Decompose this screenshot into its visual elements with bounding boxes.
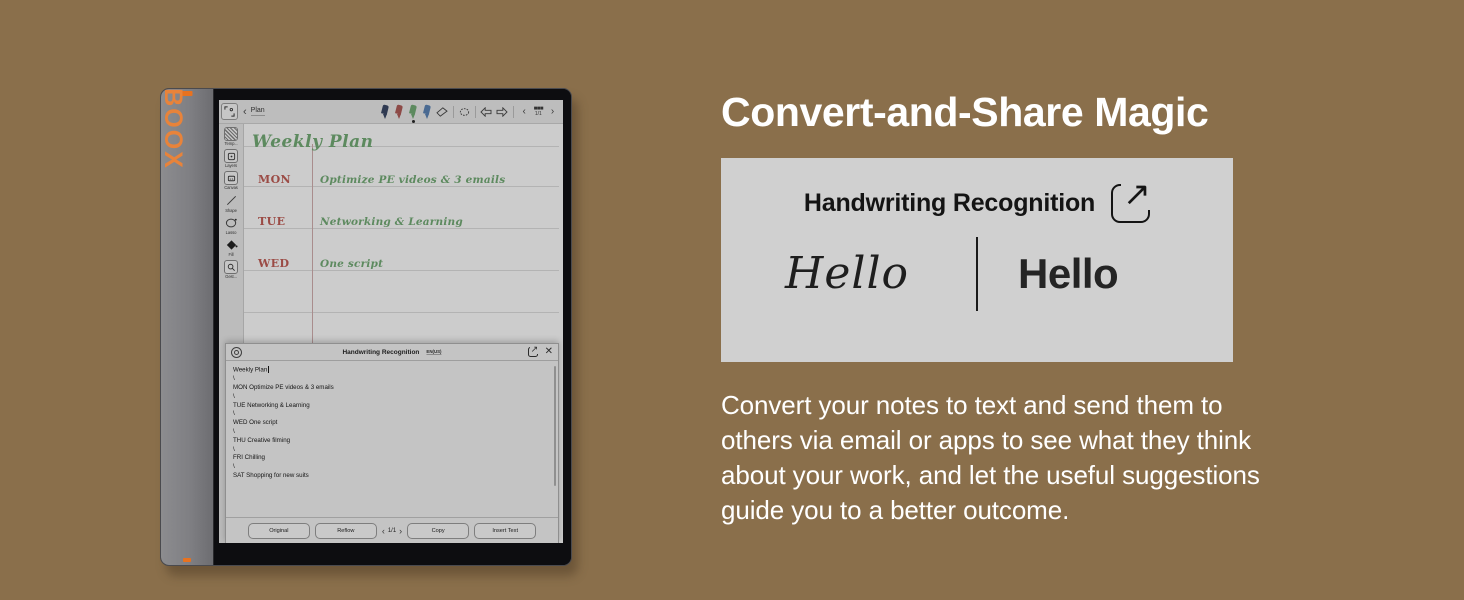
body-paragraph: Convert your notes to text and send them… xyxy=(721,388,1277,528)
undo-icon[interactable] xyxy=(480,105,493,118)
recognized-line: \ xyxy=(233,463,550,472)
pen-black[interactable] xyxy=(380,105,391,119)
insert-text-button[interactable]: Insert Text xyxy=(474,523,536,539)
tablet-screen-frame: ‹ Plan xyxy=(214,89,571,565)
recognition-panel-footer: Original Reflow ‹ 1/1 › Copy Insert Text xyxy=(226,517,558,543)
sidebar-label: Layers xyxy=(225,164,237,168)
recognized-line: \ xyxy=(233,375,550,384)
chevron-left-icon[interactable]: ‹ xyxy=(243,106,247,118)
recognition-panel-title-group: Handwriting Recognition EN(US) xyxy=(342,349,441,356)
original-button[interactable]: Original xyxy=(248,523,310,539)
lasso-icon xyxy=(224,216,238,230)
feature-card: Handwriting Recognition ↗ Hello Hello xyxy=(721,158,1233,362)
note-day-wed: WED xyxy=(258,257,289,270)
pen-green[interactable] xyxy=(408,105,419,119)
recognized-text-area[interactable]: Weekly Plan \ MON Optimize PE videos & 3… xyxy=(226,361,558,517)
handwritten-sample: Hello xyxy=(758,248,936,299)
demo-divider xyxy=(976,237,978,311)
note-text-tue: Networking & Learning xyxy=(320,216,463,228)
sidebar-item-canvas[interactable]: 1:1 Canvas xyxy=(219,171,243,190)
feature-card-title: Handwriting Recognition xyxy=(804,189,1095,218)
shape-line-icon xyxy=(224,194,238,208)
gear-icon[interactable] xyxy=(231,347,242,358)
tablet-bezel: BOOX xyxy=(161,89,214,565)
reflow-button[interactable]: Reflow xyxy=(315,523,377,539)
tablet-screen: ‹ Plan xyxy=(219,100,563,543)
note-text-wed: One script xyxy=(320,258,383,270)
handwriting-recognition-panel: Handwriting Recognition EN(US) ✕ Weekly … xyxy=(225,343,559,543)
recognition-panel-actions: ✕ xyxy=(528,347,553,357)
svg-text:1:1: 1:1 xyxy=(229,177,234,181)
recognition-panel-header: Handwriting Recognition EN(US) ✕ xyxy=(226,344,558,361)
redo-icon[interactable] xyxy=(496,105,509,118)
recognized-line: TUE Networking & Learning xyxy=(233,402,550,411)
conversion-demo: Hello Hello xyxy=(758,237,1196,311)
toolbar-divider xyxy=(475,106,476,118)
canvas-icon: 1:1 xyxy=(224,171,238,185)
pen-toolbar: ‹ ■■■ 1/1 › xyxy=(380,105,559,119)
pen-blue[interactable] xyxy=(422,105,433,119)
boox-brand-logo: BOOX xyxy=(160,88,187,170)
page-indicator-label: 1/1 xyxy=(535,112,542,117)
gesture-icon xyxy=(224,260,238,274)
template-icon xyxy=(224,127,238,141)
page-indicator[interactable]: ■■■ 1/1 xyxy=(534,106,543,117)
fill-bucket-icon xyxy=(224,238,238,252)
recognized-line: \ xyxy=(233,428,550,437)
text-caret xyxy=(268,366,269,373)
page-title: Convert-and-Share Magic xyxy=(721,90,1281,136)
eraser-icon[interactable] xyxy=(436,105,449,118)
pen-red[interactable] xyxy=(394,105,405,119)
resize-icon[interactable] xyxy=(221,103,238,120)
sidebar-item-lasso[interactable]: Lasso xyxy=(219,216,243,235)
sidebar-label: Gest... xyxy=(225,275,237,279)
toolbar-divider xyxy=(513,106,514,118)
sidebar-item-layers[interactable]: Layers xyxy=(219,149,243,168)
sidebar-item-template[interactable]: Temp... xyxy=(219,127,243,146)
recognized-line: \ xyxy=(233,446,550,455)
sidebar-label: Shape xyxy=(225,209,237,213)
note-day-tue: TUE xyxy=(258,215,285,228)
recognized-line: WED One script xyxy=(233,419,550,428)
sidebar-label: Canvas xyxy=(224,186,238,190)
bezel-bottom-accent xyxy=(183,558,191,562)
language-badge[interactable]: EN(US) xyxy=(426,349,441,356)
tablet-device: BOOX ‹ Plan xyxy=(160,88,572,566)
tablet-illustration: BOOX ‹ Plan xyxy=(160,88,578,573)
toolbar-divider xyxy=(453,106,454,118)
share-icon[interactable]: ↗ xyxy=(1111,184,1150,223)
lasso-icon[interactable] xyxy=(458,105,471,118)
prev-page-icon[interactable]: ‹ xyxy=(382,526,385,536)
recognized-line: THU Creative filming xyxy=(233,437,550,446)
prev-page-icon[interactable]: ‹ xyxy=(518,105,531,118)
sidebar-label: Lasso xyxy=(226,231,237,235)
vertical-scrollbar[interactable] xyxy=(554,366,556,486)
panel-page-nav: ‹ 1/1 › xyxy=(382,526,402,536)
recognized-line: SAT Shopping for new suits xyxy=(233,472,550,481)
right-content-column: Convert-and-Share Magic Handwriting Reco… xyxy=(721,90,1281,528)
recognition-panel-title: Handwriting Recognition xyxy=(342,349,419,356)
note-text-mon: Optimize PE videos & 3 emails xyxy=(320,174,505,186)
recognized-line: \ xyxy=(233,393,550,402)
sidebar-label: Fill xyxy=(229,253,234,257)
share-icon[interactable] xyxy=(528,347,538,357)
recognized-line: MON Optimize PE videos & 3 emails xyxy=(233,384,550,393)
document-name[interactable]: Plan xyxy=(251,107,265,116)
note-toolbar: ‹ Plan xyxy=(219,100,563,124)
sidebar-label: Temp... xyxy=(224,142,237,146)
feature-card-header: Handwriting Recognition ↗ xyxy=(804,184,1150,223)
converted-text-sample: Hello xyxy=(1018,250,1196,298)
sidebar-item-fill[interactable]: Fill xyxy=(219,238,243,257)
next-page-icon[interactable]: › xyxy=(399,526,402,536)
next-page-icon[interactable]: › xyxy=(546,105,559,118)
recognized-line: \ xyxy=(233,410,550,419)
close-icon[interactable]: ✕ xyxy=(545,347,553,357)
layers-icon xyxy=(224,149,238,163)
recognized-line: Weekly Plan xyxy=(233,366,550,375)
note-title: Weekly Plan xyxy=(252,132,374,152)
note-day-mon: MON xyxy=(258,173,291,186)
panel-page-label: 1/1 xyxy=(388,528,396,534)
sidebar-item-gesture[interactable]: Gest... xyxy=(219,260,243,279)
copy-button[interactable]: Copy xyxy=(407,523,469,539)
recognized-line: FRI Chilling xyxy=(233,454,550,463)
sidebar-item-shape[interactable]: Shape xyxy=(219,194,243,213)
